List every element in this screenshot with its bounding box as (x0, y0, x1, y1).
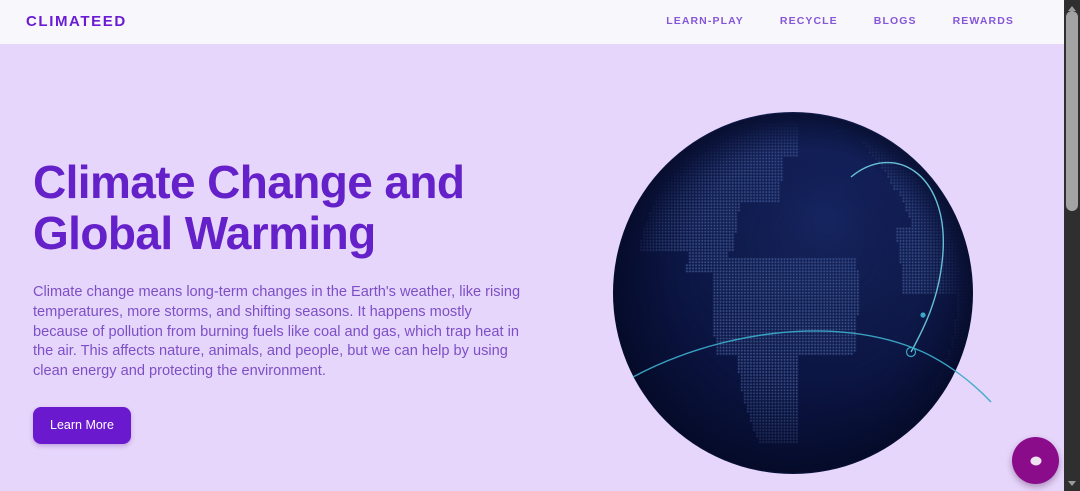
scroll-up-triangle (1068, 6, 1076, 11)
scrollbar-thumb[interactable] (1066, 11, 1078, 211)
hero-section: Climate Change and Global Warming Climat… (0, 44, 1064, 491)
nav-link-recycle[interactable]: RECYCLE (780, 15, 838, 27)
learn-more-button[interactable]: Learn More (33, 407, 131, 444)
chat-fab-button[interactable] (1012, 437, 1059, 484)
scroll-down-arrow-icon[interactable] (1064, 475, 1080, 491)
chat-dot-icon (1030, 456, 1041, 465)
page-title: Climate Change and Global Warming (33, 157, 533, 259)
nav-link-rewards[interactable]: REWARDS (953, 15, 1014, 27)
hero-description: Climate change means long-term changes i… (33, 283, 523, 382)
globe-illustration (613, 112, 975, 476)
page-root: CLIMATEED LEARN-PLAY RECYCLE BLOGS REWAR… (0, 0, 1064, 491)
site-header: CLIMATEED LEARN-PLAY RECYCLE BLOGS REWAR… (0, 0, 1064, 44)
nav-link-learn-play[interactable]: LEARN-PLAY (666, 15, 744, 27)
site-logo[interactable]: CLIMATEED (26, 13, 127, 30)
globe-flight-arcs (593, 102, 1013, 491)
nav-link-blogs[interactable]: BLOGS (874, 15, 917, 27)
vertical-scrollbar[interactable] (1064, 0, 1080, 491)
main-navigation: LEARN-PLAY RECYCLE BLOGS REWARDS (666, 15, 1014, 27)
arc-node-b (920, 312, 925, 317)
hero-copy: Climate Change and Global Warming Climat… (33, 157, 533, 444)
scroll-down-triangle (1068, 481, 1076, 486)
arc-path-top (851, 163, 943, 352)
arc-path-equator (633, 331, 991, 402)
